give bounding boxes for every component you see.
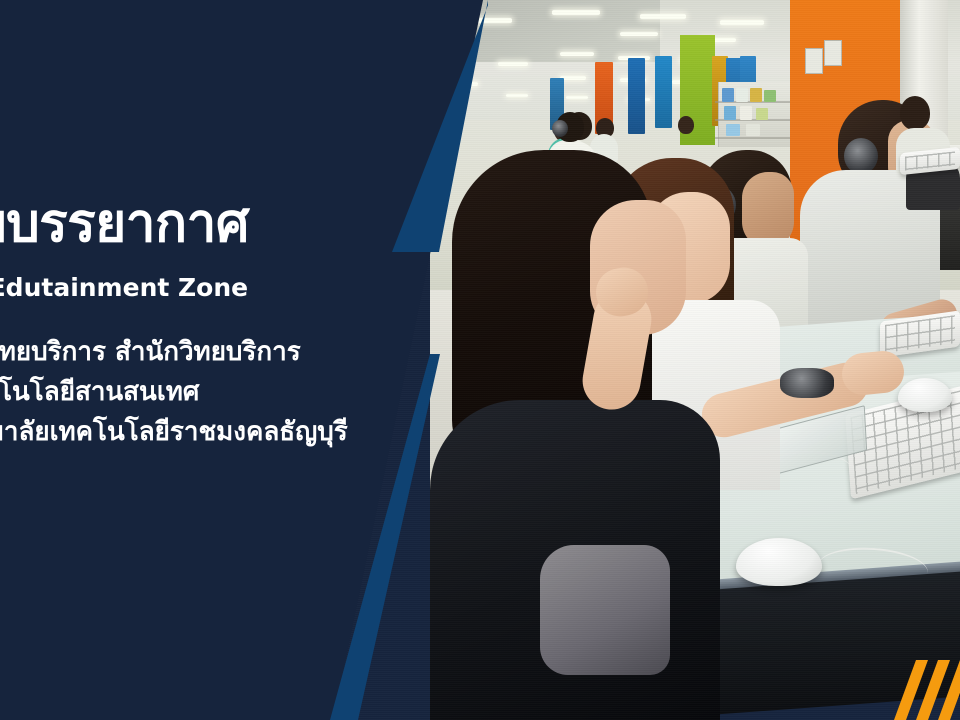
wall-poster (824, 40, 842, 66)
handbag (540, 545, 670, 675)
ceiling-light (506, 94, 528, 97)
wall-poster (805, 48, 823, 74)
subtitle: บริการ Edutainment Zone (0, 268, 248, 308)
ceiling-light (552, 10, 600, 15)
white-mouse (898, 378, 952, 412)
ceiling-light (498, 62, 528, 66)
book (746, 124, 760, 136)
org-line-2: และเทคโนโลยีสานสนเทศ (0, 372, 348, 412)
keyboard-keys (885, 315, 955, 353)
over-ear-headphones (844, 138, 878, 174)
over-ear-headphones (780, 368, 834, 398)
ceiling-light (566, 96, 588, 99)
book (750, 88, 762, 102)
book (740, 106, 752, 120)
person-head (900, 96, 930, 130)
slide-canvas: ภาพบรรยากาศ บริการ Edutainment Zone อาคา… (0, 0, 960, 720)
book (724, 106, 736, 120)
hanging-banner (655, 56, 672, 128)
over-ear-headphones (552, 120, 568, 137)
keyboard-keys (905, 151, 955, 170)
book (726, 124, 740, 136)
ceiling-light (720, 20, 764, 25)
book (764, 90, 776, 102)
hanging-banner (628, 58, 645, 134)
org-line-1: อาคารวิทยบริการ สำนักวิทยบริการ (0, 332, 348, 372)
book (736, 88, 748, 102)
book (756, 108, 768, 120)
ceiling-light (620, 32, 658, 36)
book (722, 88, 734, 102)
person-face (742, 172, 794, 248)
ceiling-light (560, 52, 594, 56)
org-line-3: มหาวิทยาลัยเทคโนโลยีราชมงคลธัญบุรี (0, 412, 348, 452)
page-title: ภาพบรรยากาศ (0, 196, 249, 252)
text-block: ภาพบรรยากาศ บริการ Edutainment Zone อาคา… (0, 0, 470, 720)
ceiling-light (640, 14, 686, 19)
person-head (678, 116, 694, 134)
organization-lines: อาคารวิทยบริการ สำนักวิทยบริการ และเทคโน… (0, 332, 348, 452)
